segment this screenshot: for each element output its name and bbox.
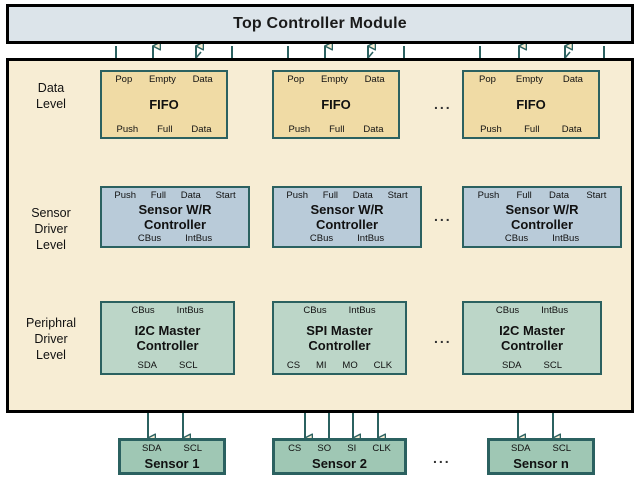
level-label-periphral-driver-line2: Driver xyxy=(8,331,94,347)
sensor-wr-3-line2: Controller xyxy=(511,217,573,232)
port-scl: SCL xyxy=(179,360,197,371)
sensor-wr-controller-2[interactable]: Push Full Data Start Sensor W/R Controll… xyxy=(272,186,422,248)
sensor-n-label: Sensor n xyxy=(490,441,592,472)
i2c-master-1-bottom-ports: SDA SCL xyxy=(102,360,233,371)
port-full: Full xyxy=(524,124,539,135)
ellipsis-sensor-driver-level: ... xyxy=(434,208,452,224)
level-label-periphral-driver-line1: Periphral xyxy=(8,315,94,331)
port-intbus: IntBus xyxy=(552,233,579,244)
fifo-block-1[interactable]: Pop Empty Data FIFO Push Full Data xyxy=(100,70,228,139)
sensor-block-n[interactable]: SDA SCL Sensor n xyxy=(487,438,595,475)
level-label-data: Data Level xyxy=(8,80,94,112)
sensor-wr-controller-1[interactable]: Push Full Data Start Sensor W/R Controll… xyxy=(100,186,250,248)
i2c-master-1-line2: Controller xyxy=(136,338,198,353)
fifo-block-3[interactable]: Pop Empty Data FIFO Push Full Data xyxy=(462,70,600,139)
port-data: Data xyxy=(191,124,211,135)
top-controller-module[interactable]: Top Controller Module xyxy=(6,4,634,44)
port-sda: SDA xyxy=(137,360,157,371)
ellipsis-sensors: ... xyxy=(433,450,451,466)
level-label-periphral-driver: Periphral Driver Level xyxy=(8,315,94,363)
spi-master-2-line1: SPI Master xyxy=(306,323,372,338)
ellipsis-data-level: ... xyxy=(434,96,452,112)
port-intbus: IntBus xyxy=(185,233,212,244)
sensor-wr-controller-3[interactable]: Push Full Data Start Sensor W/R Controll… xyxy=(462,186,622,248)
i2c-master-controller-1[interactable]: CBus IntBus I2C Master Controller SDA SC… xyxy=(100,301,235,375)
port-mo: MO xyxy=(342,360,357,371)
sensor-wr-2-bottom-ports: CBus IntBus xyxy=(274,233,420,244)
spi-master-2-line2: Controller xyxy=(308,338,370,353)
sensor-wr-3-bottom-ports: CBus IntBus xyxy=(464,233,620,244)
ellipsis-periphral-driver-level: ... xyxy=(434,330,452,346)
port-push: Push xyxy=(288,124,310,135)
port-sda: SDA xyxy=(502,360,522,371)
port-full: Full xyxy=(157,124,172,135)
sensor-2-label: Sensor 2 xyxy=(275,441,404,472)
port-scl: SCL xyxy=(544,360,562,371)
level-label-sensor-driver: Sensor Driver Level xyxy=(8,205,94,253)
i2c-master-1-line1: I2C Master xyxy=(135,323,201,338)
port-data: Data xyxy=(562,124,582,135)
level-label-sensor-driver-line1: Sensor xyxy=(8,205,94,221)
port-cbus: CBus xyxy=(138,233,161,244)
port-clk: CLK xyxy=(374,360,392,371)
sensor-wr-1-bottom-ports: CBus IntBus xyxy=(102,233,248,244)
i2c-master-3-line1: I2C Master xyxy=(499,323,565,338)
port-cs: CS xyxy=(287,360,300,371)
port-intbus: IntBus xyxy=(357,233,384,244)
sensor-wr-2-line2: Controller xyxy=(316,217,378,232)
port-cbus: CBus xyxy=(505,233,528,244)
page-title: Top Controller Module xyxy=(233,15,407,33)
i2c-master-3-line2: Controller xyxy=(501,338,563,353)
sensor-wr-3-line1: Sensor W/R xyxy=(506,202,579,217)
level-label-periphral-driver-line3: Level xyxy=(8,347,94,363)
fifo-block-2[interactable]: Pop Empty Data FIFO Push Full Data xyxy=(272,70,400,139)
port-mi: MI xyxy=(316,360,327,371)
sensor-wr-1-line1: Sensor W/R xyxy=(139,202,212,217)
sensor-wr-2-line1: Sensor W/R xyxy=(311,202,384,217)
port-full: Full xyxy=(329,124,344,135)
fifo-2-bottom-ports: Push Full Data xyxy=(274,124,398,135)
fifo-3-bottom-ports: Push Full Data xyxy=(464,124,598,135)
i2c-master-3-bottom-ports: SDA SCL xyxy=(464,360,600,371)
sensor-1-label: Sensor 1 xyxy=(121,441,223,472)
level-label-data-line2: Level xyxy=(8,96,94,112)
fifo-1-bottom-ports: Push Full Data xyxy=(102,124,226,135)
port-push: Push xyxy=(480,124,502,135)
spi-master-controller-2[interactable]: CBus IntBus SPI Master Controller CS MI … xyxy=(272,301,407,375)
level-label-data-line1: Data xyxy=(8,80,94,96)
port-data: Data xyxy=(363,124,383,135)
port-push: Push xyxy=(116,124,138,135)
sensor-block-1[interactable]: SDA SCL Sensor 1 xyxy=(118,438,226,475)
i2c-master-controller-3[interactable]: CBus IntBus I2C Master Controller SDA SC… xyxy=(462,301,602,375)
diagram-canvas: Top Controller Module Data Level Sensor … xyxy=(0,0,640,479)
spi-master-2-bottom-ports: CS MI MO CLK xyxy=(274,360,405,371)
sensor-block-2[interactable]: CS SO SI CLK Sensor 2 xyxy=(272,438,407,475)
sensor-wr-1-line2: Controller xyxy=(144,217,206,232)
level-label-sensor-driver-line2: Driver xyxy=(8,221,94,237)
level-label-sensor-driver-line3: Level xyxy=(8,237,94,253)
port-cbus: CBus xyxy=(310,233,333,244)
